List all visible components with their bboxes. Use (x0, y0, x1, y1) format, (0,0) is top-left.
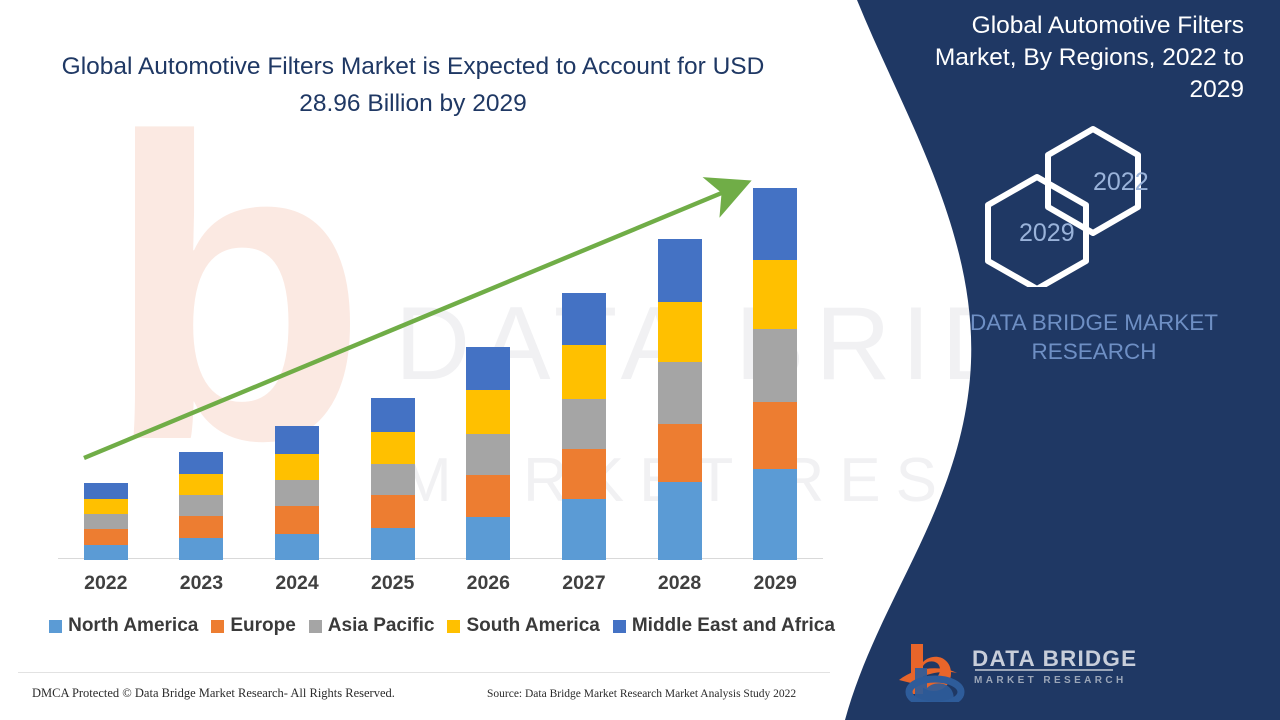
hexagon-2022-label: 2022 (1093, 168, 1149, 197)
x-axis-label-2025: 2025 (345, 572, 441, 595)
logo-text-line2: MARKET RESEARCH (974, 675, 1127, 686)
x-axis-label-2027: 2027 (536, 572, 632, 595)
infographic-canvas: b DATA BRIDGE MARKET RESEARCH Global Aut… (0, 0, 1280, 720)
x-axis-label-2026: 2026 (440, 572, 536, 595)
x-axis-label-2029: 2029 (727, 572, 823, 595)
x-axis-label-2028: 2028 (632, 572, 728, 595)
x-axis-label-2023: 2023 (153, 572, 249, 595)
x-axis-label-2022: 2022 (58, 572, 154, 595)
hexagon-2029-label: 2029 (1019, 219, 1075, 248)
panel-title: Global Automotive Filters Market, By Reg… (914, 10, 1244, 106)
logo-text-line1: DATA BRIDGE (972, 646, 1137, 672)
x-axis-label-2024: 2024 (249, 572, 345, 595)
panel-brand-text: DATA BRIDGE MARKET RESEARCH (944, 308, 1244, 366)
hexagon-pair-graphic (975, 122, 1195, 287)
